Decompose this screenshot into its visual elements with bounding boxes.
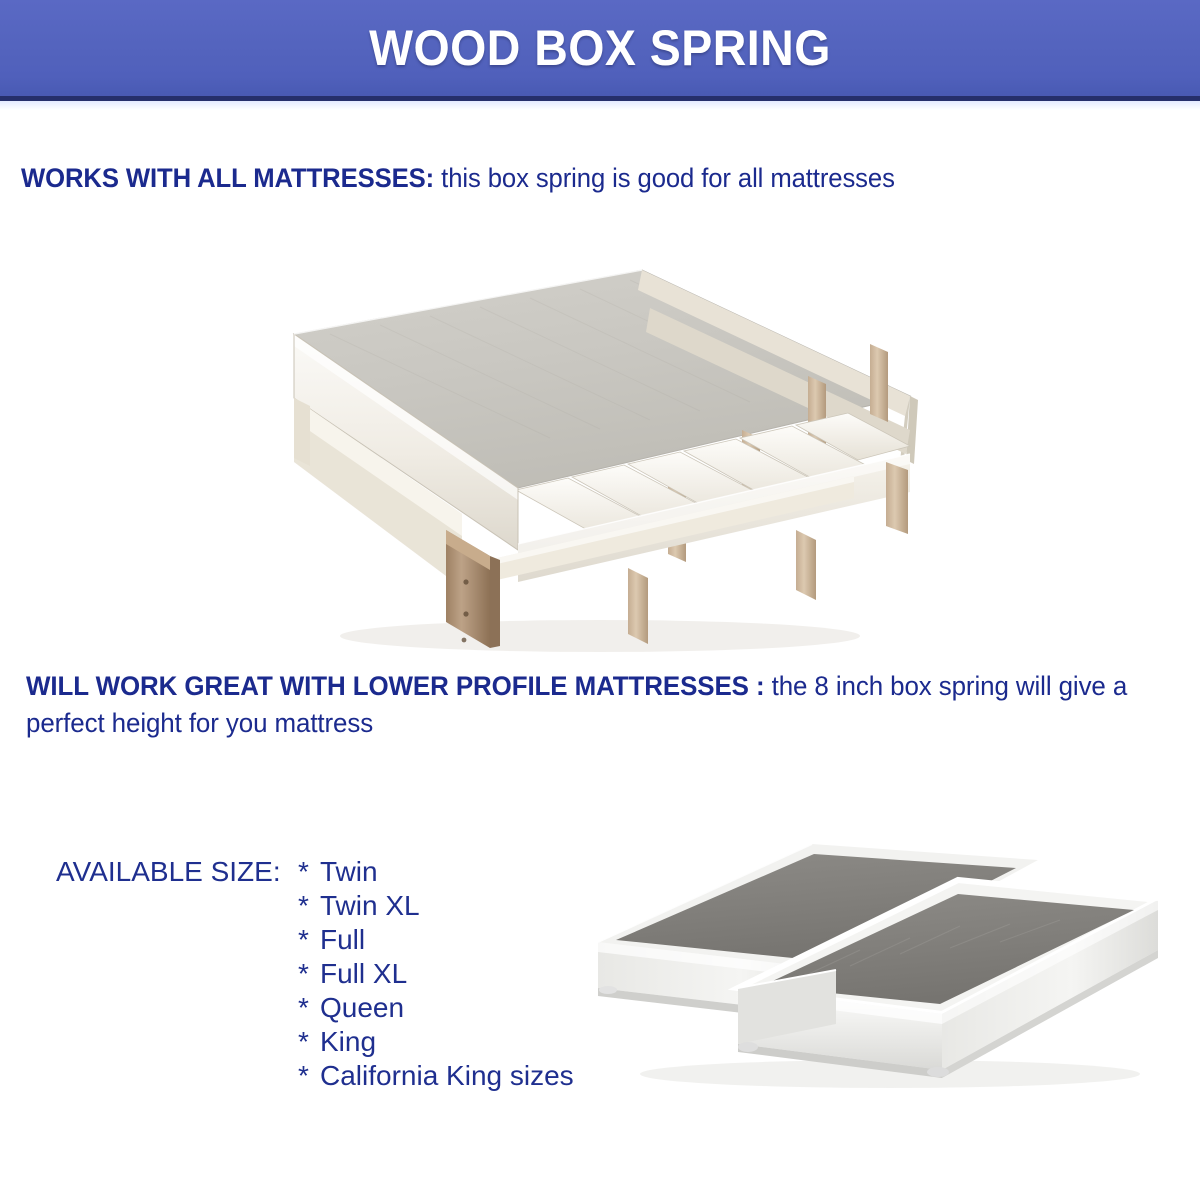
available-sizes-list: AVAILABLE SIZE: *Twin *Twin XL *Full *Fu… (56, 855, 574, 1093)
sizes-label-spacer (56, 991, 298, 1025)
main-product-image (250, 248, 930, 658)
secondary-product-image (560, 838, 1180, 1118)
list-item: *Full (56, 923, 574, 957)
bullet-star-icon: * (298, 923, 320, 957)
list-item: *Queen (56, 991, 574, 1025)
sizes-label-spacer (56, 889, 298, 923)
size-item-label: Queen (320, 992, 404, 1023)
bullet-star-icon: * (298, 991, 320, 1025)
size-item-label: California King sizes (320, 1060, 574, 1091)
size-item: *Twin XL (298, 889, 420, 923)
feature-works-with-all-mattresses: WORKS WITH ALL MATTRESSES: this box spri… (21, 161, 1114, 195)
size-item-label: King (320, 1026, 376, 1057)
size-item: *Full (298, 923, 365, 957)
list-item: *King (56, 1025, 574, 1059)
size-item: *Queen (298, 991, 404, 1025)
size-item: *Twin (298, 855, 378, 889)
list-item: AVAILABLE SIZE: *Twin (56, 855, 574, 889)
bullet-star-icon: * (298, 1059, 320, 1093)
feature-lower-profile-mattresses: WILL WORK GREAT WITH LOWER PROFILE MATTR… (26, 668, 1159, 742)
size-item: *California King sizes (298, 1059, 574, 1093)
feature-body: this box spring is good for all mattress… (434, 163, 895, 193)
sizes-label-spacer (56, 1059, 298, 1093)
sizes-label-spacer (56, 923, 298, 957)
size-item-label: Twin XL (320, 890, 420, 921)
bullet-star-icon: * (298, 1025, 320, 1059)
feature-heading: WORKS WITH ALL MATTRESSES: (21, 163, 434, 193)
bullet-star-icon: * (298, 957, 320, 991)
bullet-star-icon: * (298, 855, 320, 889)
feature-heading: WILL WORK GREAT WITH LOWER PROFILE MATTR… (26, 671, 764, 701)
size-item-label: Full XL (320, 958, 407, 989)
list-item: *Full XL (56, 957, 574, 991)
size-item-label: Twin (320, 856, 378, 887)
bullet-star-icon: * (298, 889, 320, 923)
header-underglow (0, 101, 1200, 110)
size-item-label: Full (320, 924, 365, 955)
list-item: *California King sizes (56, 1059, 574, 1093)
sizes-label-spacer (56, 1025, 298, 1059)
size-item: *King (298, 1025, 376, 1059)
available-sizes-label: AVAILABLE SIZE: (56, 855, 298, 889)
sizes-label-spacer (56, 957, 298, 991)
size-item: *Full XL (298, 957, 407, 991)
page-title: WOOD BOX SPRING (42, 0, 1158, 96)
list-item: *Twin XL (56, 889, 574, 923)
